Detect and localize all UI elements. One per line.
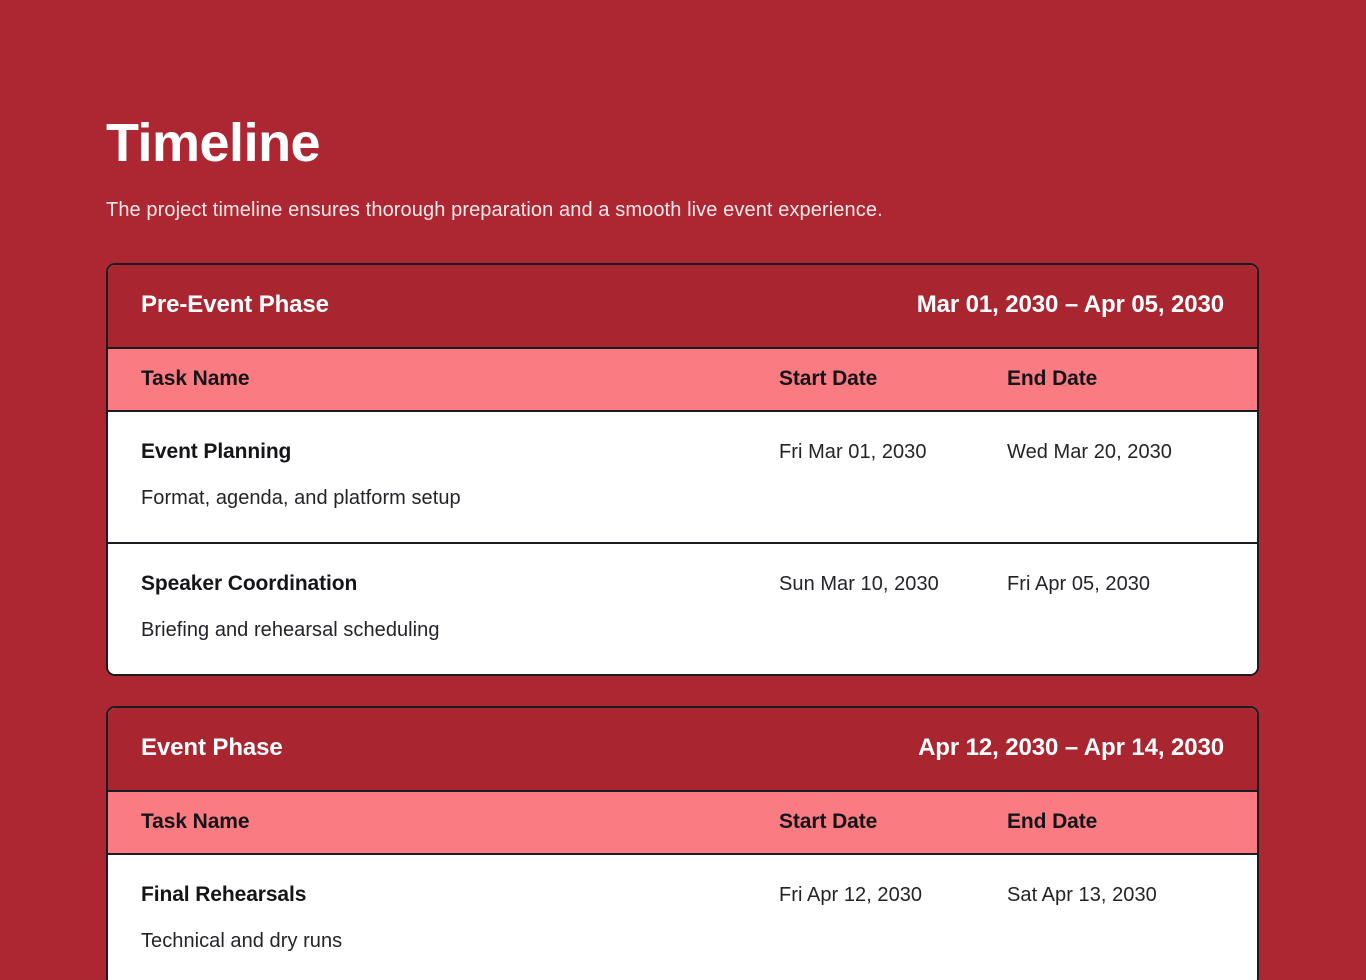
phase-name: Pre-Event Phase bbox=[141, 291, 329, 319]
task-cell: Speaker Coordination Briefing and rehear… bbox=[141, 571, 779, 643]
task-end-date: Fri Apr 05, 2030 bbox=[1007, 571, 1224, 597]
task-description: Technical and dry runs bbox=[141, 928, 779, 954]
page-header: Timeline The project timeline ensures th… bbox=[106, 0, 1260, 224]
column-header-end-date: End Date bbox=[1007, 367, 1224, 391]
task-end-date: Wed Mar 20, 2030 bbox=[1007, 439, 1224, 465]
task-start-date: Fri Apr 12, 2030 bbox=[779, 882, 1007, 908]
phase-header: Event Phase Apr 12, 2030 – Apr 14, 2030 bbox=[108, 708, 1257, 792]
column-header-task-name: Task Name bbox=[141, 367, 779, 391]
table-row[interactable]: Speaker Coordination Briefing and rehear… bbox=[108, 544, 1257, 674]
column-header-start-date: Start Date bbox=[779, 810, 1007, 834]
phase-card: Event Phase Apr 12, 2030 – Apr 14, 2030 … bbox=[106, 706, 1259, 980]
table-row[interactable]: Event Planning Format, agenda, and platf… bbox=[108, 412, 1257, 544]
task-start-date: Fri Mar 01, 2030 bbox=[779, 439, 1007, 465]
page-subtitle: The project timeline ensures thorough pr… bbox=[106, 196, 1260, 224]
task-name: Speaker Coordination bbox=[141, 571, 779, 597]
phase-card-list: Pre-Event Phase Mar 01, 2030 – Apr 05, 2… bbox=[106, 263, 1260, 980]
phase-name: Event Phase bbox=[141, 734, 283, 762]
column-header-task-name: Task Name bbox=[141, 810, 779, 834]
phase-header: Pre-Event Phase Mar 01, 2030 – Apr 05, 2… bbox=[108, 265, 1257, 349]
phase-date-range: Mar 01, 2030 – Apr 05, 2030 bbox=[917, 291, 1224, 319]
table-column-header: Task Name Start Date End Date bbox=[108, 792, 1257, 855]
table-row[interactable]: Final Rehearsals Technical and dry runs … bbox=[108, 855, 1257, 980]
page-title: Timeline bbox=[106, 112, 1260, 176]
column-header-end-date: End Date bbox=[1007, 810, 1224, 834]
phase-card: Pre-Event Phase Mar 01, 2030 – Apr 05, 2… bbox=[106, 263, 1259, 677]
task-cell: Event Planning Format, agenda, and platf… bbox=[141, 439, 779, 511]
task-start-date: Sun Mar 10, 2030 bbox=[779, 571, 1007, 597]
task-end-date: Sat Apr 13, 2030 bbox=[1007, 882, 1224, 908]
column-header-start-date: Start Date bbox=[779, 367, 1007, 391]
timeline-page: Timeline The project timeline ensures th… bbox=[0, 0, 1366, 980]
phase-date-range: Apr 12, 2030 – Apr 14, 2030 bbox=[918, 734, 1224, 762]
task-description: Format, agenda, and platform setup bbox=[141, 485, 779, 511]
task-name: Event Planning bbox=[141, 439, 779, 465]
task-description: Briefing and rehearsal scheduling bbox=[141, 617, 779, 643]
task-name: Final Rehearsals bbox=[141, 882, 779, 908]
task-cell: Final Rehearsals Technical and dry runs bbox=[141, 882, 779, 954]
table-column-header: Task Name Start Date End Date bbox=[108, 349, 1257, 412]
